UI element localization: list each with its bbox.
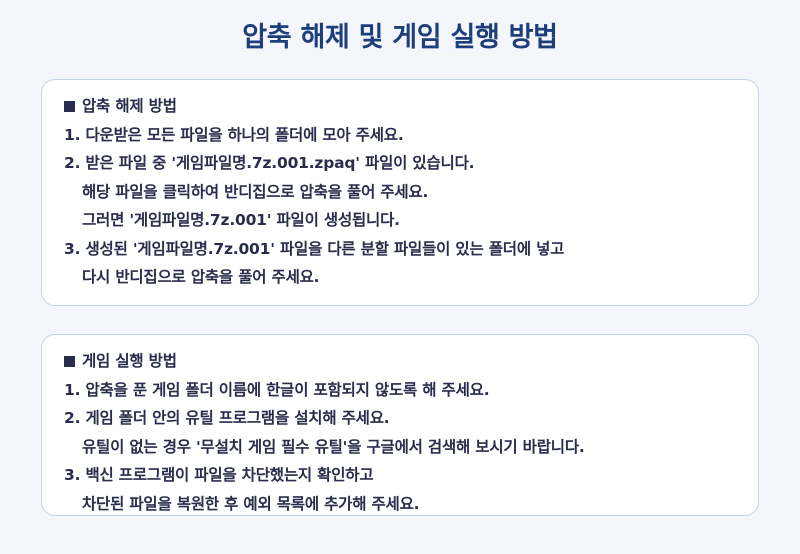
- instruction-line: 다시 반디집으로 압축을 풀어 주세요.: [64, 263, 736, 292]
- instruction-line: 해당 파일을 클릭하여 반디집으로 압축을 풀어 주세요.: [64, 178, 736, 207]
- instruction-line: 2. 게임 폴더 안의 유틸 프로그램을 설치해 주세요.: [64, 404, 736, 433]
- filled-square-icon: [64, 101, 75, 112]
- instruction-line: 1. 압축을 푼 게임 폴더 이름에 한글이 포함되지 않도록 해 주세요.: [64, 376, 736, 405]
- section-heading-run-game-label: 게임 실행 방법: [82, 347, 177, 376]
- instructions-page: 압축 해제 및 게임 실행 방법 압축 해제 방법 1. 다운받은 모든 파일을…: [0, 0, 800, 554]
- instruction-line: 2. 받은 파일 중 '게임파일명.7z.001.zpaq' 파일이 있습니다.: [64, 149, 736, 178]
- instruction-line: 3. 백신 프로그램이 파일을 차단했는지 확인하고: [64, 461, 736, 490]
- card-run-game-content: 게임 실행 방법 1. 압축을 푼 게임 폴더 이름에 한글이 포함되지 않도록…: [42, 335, 758, 528]
- card-run-game-instructions: 게임 실행 방법 1. 압축을 푼 게임 폴더 이름에 한글이 포함되지 않도록…: [41, 334, 759, 516]
- card-unzip-content: 압축 해제 방법 1. 다운받은 모든 파일을 하나의 폴더에 모아 주세요. …: [42, 80, 758, 302]
- instruction-line: 그러면 '게임파일명.7z.001' 파일이 생성됩니다.: [64, 206, 736, 235]
- section-heading-unzip: 압축 해제 방법: [64, 92, 736, 121]
- instruction-line: 1. 다운받은 모든 파일을 하나의 폴더에 모아 주세요.: [64, 121, 736, 150]
- filled-square-icon: [64, 356, 75, 367]
- instruction-line: 3. 생성된 '게임파일명.7z.001' 파일을 다른 분할 파일들이 있는 …: [64, 235, 736, 264]
- instruction-line: 차단된 파일을 복원한 후 예외 목록에 추가해 주세요.: [64, 490, 736, 519]
- instruction-line: 유틸이 없는 경우 '무설치 게임 필수 유틸'을 구글에서 검색해 보시기 바…: [64, 433, 736, 462]
- card-unzip-instructions: 압축 해제 방법 1. 다운받은 모든 파일을 하나의 폴더에 모아 주세요. …: [41, 79, 759, 306]
- section-heading-unzip-label: 압축 해제 방법: [82, 92, 177, 121]
- page-title: 압축 해제 및 게임 실행 방법: [0, 22, 800, 54]
- section-heading-run-game: 게임 실행 방법: [64, 347, 736, 376]
